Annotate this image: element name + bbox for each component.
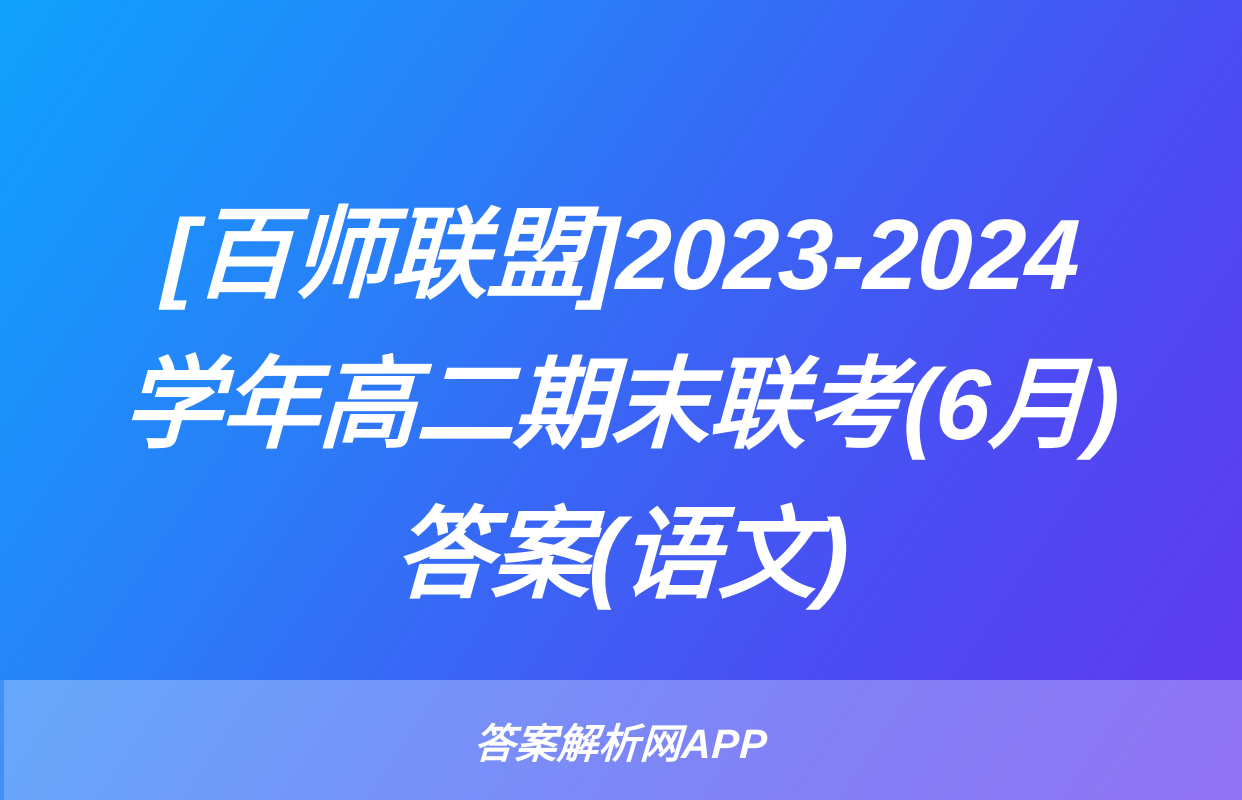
title-line-3: 答案(语文): [64, 480, 1178, 630]
poster-background: [百师联盟]2023-2024 学年高二期末联考(6月) 答案(语文) 答案解析…: [0, 0, 1242, 800]
footer-left-edge-strip: [0, 680, 4, 800]
app-watermark-label: 答案解析网APP: [0, 680, 1242, 800]
title-line-2: 学年高二期末联考(6月): [64, 330, 1178, 480]
title-line-1: [百师联盟]2023-2024: [64, 180, 1178, 330]
footer-band: 答案解析网APP: [0, 680, 1242, 800]
page-title: [百师联盟]2023-2024 学年高二期末联考(6月) 答案(语文): [0, 180, 1242, 630]
